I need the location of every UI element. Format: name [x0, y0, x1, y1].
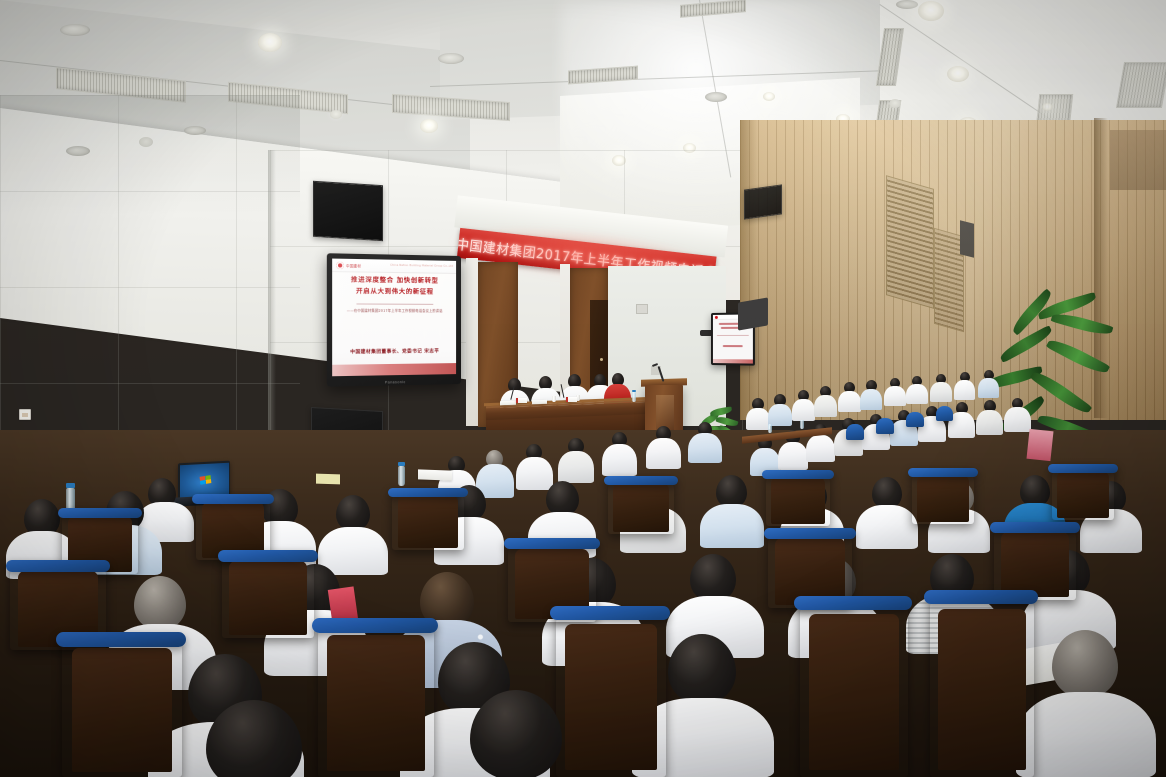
head-table-nameplate [566, 397, 577, 402]
ceiling-speaker-icon [60, 24, 90, 36]
audience-chair [936, 406, 953, 421]
slide-content: 中国建材 China Nation Building Material Grou… [332, 259, 456, 377]
audience-chair [906, 412, 924, 427]
slide-header-english: China Nation Building Material Group Co.… [390, 263, 453, 267]
audience-chair-trim [908, 468, 978, 477]
head-table-paper [532, 400, 547, 405]
slide-presenter: 中国建材集团董事长、党委书记 宋志平 [332, 348, 456, 355]
audience-chair-trim [794, 596, 912, 610]
slide-divider [356, 303, 433, 304]
audience-chair [318, 626, 434, 777]
audience-chair-trim [218, 550, 318, 562]
ceiling-downlight [889, 99, 901, 108]
ceiling-downlight [947, 66, 969, 82]
secondary-slide-presenter [723, 345, 743, 347]
audience-chair-trim [604, 476, 678, 485]
ceiling-downlight [420, 119, 438, 133]
audience-chair [846, 424, 864, 440]
audience-chair [800, 604, 908, 777]
audience-chair [912, 472, 974, 524]
wall-outlet [636, 304, 648, 314]
secondary-slide-footer [713, 359, 753, 364]
ceiling-downlight [763, 92, 775, 101]
audience-chair [1052, 468, 1114, 520]
audience-chair-trim [312, 618, 438, 633]
ceiling-downlight [258, 33, 282, 52]
slide-header: 中国建材 China Nation Building Material Grou… [332, 259, 456, 274]
slide-subtitle: ——在中国建材集团2017年上半年工作视频电话会议上的讲话 [332, 307, 456, 313]
ceiling-speaker-icon [896, 0, 918, 9]
audience-chair-trim [58, 508, 142, 518]
audience-chair-trim [762, 470, 834, 479]
audience-chair-trim [550, 606, 670, 620]
audience-chair [930, 598, 1034, 777]
ceiling-downlight [330, 110, 342, 119]
slide-title-line2: 开启从大到伟大的新征程 [332, 286, 456, 298]
audience-chair-trim [990, 522, 1080, 533]
ceiling-downlight [918, 1, 944, 21]
head-table-nameplate [516, 398, 527, 403]
doorknob-icon[interactable] [600, 358, 603, 361]
slide-title-line1: 推进深度整合 加快创新转型 [332, 274, 456, 287]
audience-chair-trim [764, 528, 856, 539]
acoustic-panel [744, 184, 782, 219]
audience-chair [876, 418, 894, 434]
tv-brand-label: Panasonic [385, 380, 406, 384]
cnbm-logo-icon [336, 261, 343, 268]
hvac-vent [1116, 62, 1166, 108]
water-bottle [800, 420, 804, 429]
cnbm-logo-text: 中国建材 [346, 262, 361, 267]
audience-chair-trim [924, 590, 1038, 604]
secondary-slide-subtitle [717, 335, 749, 336]
audience-chair-trim [388, 488, 468, 497]
head-table-paper [500, 401, 516, 406]
water-bottle [768, 424, 772, 433]
acoustic-panel [313, 181, 383, 241]
audience-chair-trim [56, 632, 186, 647]
main-presentation-screen[interactable]: 中国建材 China Nation Building Material Grou… [327, 253, 461, 387]
audience-chair-trim [6, 560, 110, 572]
head-table-bottle [632, 392, 636, 402]
slide-body: 推进深度整合 加快创新转型 开启从大到伟大的新征程 ——在中国建材集团2017年… [332, 274, 456, 314]
held-document [1026, 429, 1053, 461]
bottle-cap [632, 390, 636, 392]
wall-bracket [738, 297, 768, 330]
ceiling-speaker-icon [705, 92, 727, 102]
audience-chair [556, 614, 666, 777]
audience-chair [62, 640, 182, 777]
wall-switch[interactable] [19, 409, 31, 420]
wall-shading [0, 95, 300, 215]
slide-footer-band [332, 363, 456, 376]
door-frame [466, 258, 478, 426]
ceiling-downlight [1042, 103, 1053, 111]
head-table-cup [552, 396, 556, 402]
audience-chair-trim [192, 494, 274, 504]
audience-chair [766, 474, 830, 526]
cnbm-logo-icon [714, 315, 717, 318]
ceiling-speaker-icon [438, 53, 464, 64]
audience-chair-trim [1048, 464, 1118, 473]
audience-chair-trim [504, 538, 600, 549]
conference-hall-photo: 中国建材集团2017年上半年工作视频电话会 中国建材 China Nation … [0, 0, 1166, 777]
